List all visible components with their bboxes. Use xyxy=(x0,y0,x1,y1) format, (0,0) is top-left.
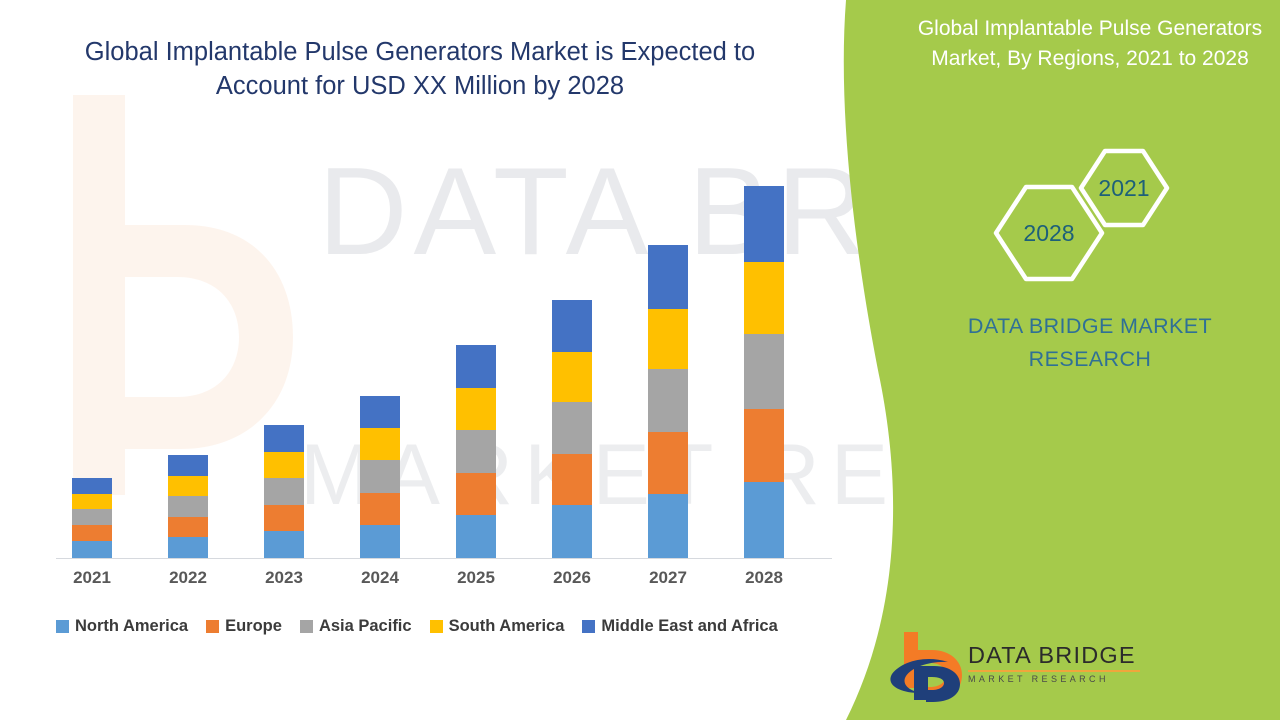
legend-item-middle-east-and-africa[interactable]: Middle East and Africa xyxy=(582,617,777,636)
x-axis-label-2027: 2027 xyxy=(638,568,698,588)
bar-segment-2024-asia-pacific xyxy=(360,460,400,493)
bar-segment-2022-europe xyxy=(168,517,208,537)
x-axis-label-2028: 2028 xyxy=(734,568,794,588)
stacked-bar-chart: 20212022202320242025202620272028 xyxy=(0,0,900,600)
bar-segment-2026-south-america xyxy=(552,352,592,402)
logo-wordmark: DATA BRIDGE MARKET RESEARCH xyxy=(968,642,1148,684)
bar-segment-2022-middle-east-and-africa xyxy=(168,455,208,476)
bar-2021 xyxy=(72,478,112,558)
legend-item-asia-pacific[interactable]: Asia Pacific xyxy=(300,617,412,636)
x-axis-label-2024: 2024 xyxy=(350,568,410,588)
x-axis-label-2022: 2022 xyxy=(158,568,218,588)
bar-segment-2028-south-america xyxy=(744,262,784,334)
bar-segment-2022-south-america xyxy=(168,476,208,496)
bar-2023 xyxy=(264,425,304,558)
bar-2028 xyxy=(744,186,784,558)
bar-2025 xyxy=(456,345,496,558)
logo-subtitle: MARKET RESEARCH xyxy=(968,674,1148,684)
chart-panel: DATA BRIDGE MARKET RESEARCH Global Impla… xyxy=(0,0,900,720)
legend-swatch-icon xyxy=(206,620,219,633)
bar-2022 xyxy=(168,455,208,558)
bar-segment-2026-middle-east-and-africa xyxy=(552,300,592,352)
bar-segment-2025-south-america xyxy=(456,388,496,430)
bar-2024 xyxy=(360,396,400,558)
bar-segment-2025-europe xyxy=(456,473,496,515)
bar-segment-2024-north-america xyxy=(360,525,400,558)
bar-segment-2027-south-america xyxy=(648,309,688,369)
legend-swatch-icon xyxy=(300,620,313,633)
bar-segment-2028-north-america xyxy=(744,482,784,558)
legend-swatch-icon xyxy=(56,620,69,633)
bar-segment-2026-europe xyxy=(552,454,592,505)
x-axis-line xyxy=(56,558,832,559)
logo-title: DATA BRIDGE xyxy=(968,642,1148,669)
x-axis-label-2023: 2023 xyxy=(254,568,314,588)
bar-segment-2022-asia-pacific xyxy=(168,496,208,517)
bar-segment-2021-south-america xyxy=(72,494,112,509)
bar-2026 xyxy=(552,300,592,558)
bar-segment-2025-middle-east-and-africa xyxy=(456,345,496,388)
chart-legend: North AmericaEuropeAsia PacificSouth Ame… xyxy=(56,617,836,636)
x-axis-label-2025: 2025 xyxy=(446,568,506,588)
bar-segment-2027-europe xyxy=(648,432,688,494)
bar-segment-2021-north-america xyxy=(72,541,112,558)
legend-swatch-icon xyxy=(582,620,595,633)
legend-label: South America xyxy=(449,617,565,636)
bar-segment-2028-middle-east-and-africa xyxy=(744,186,784,262)
logo-divider xyxy=(968,670,1140,672)
data-bridge-logo: DATA BRIDGE MARKET RESEARCH xyxy=(890,630,1150,705)
bar-segment-2026-asia-pacific xyxy=(552,402,592,454)
hexagon-2021-label: 2021 xyxy=(1098,175,1149,202)
brand-name: DATA BRIDGE MARKET RESEARCH xyxy=(920,310,1260,375)
bar-segment-2026-north-america xyxy=(552,505,592,558)
bar-segment-2027-asia-pacific xyxy=(648,369,688,432)
bar-segment-2023-south-america xyxy=(264,452,304,478)
bar-segment-2024-south-america xyxy=(360,428,400,460)
legend-label: Europe xyxy=(225,617,282,636)
legend-item-north-america[interactable]: North America xyxy=(56,617,188,636)
bar-segment-2023-middle-east-and-africa xyxy=(264,425,304,452)
x-axis-label-2026: 2026 xyxy=(542,568,602,588)
b-logo-icon xyxy=(890,630,970,702)
bar-segment-2024-europe xyxy=(360,493,400,525)
bar-segment-2021-europe xyxy=(72,525,112,541)
bar-segment-2023-europe xyxy=(264,505,304,531)
bar-segment-2024-middle-east-and-africa xyxy=(360,396,400,428)
bar-segment-2028-asia-pacific xyxy=(744,334,784,409)
legend-label: Asia Pacific xyxy=(319,617,412,636)
bar-segment-2021-middle-east-and-africa xyxy=(72,478,112,494)
bar-segment-2027-middle-east-and-africa xyxy=(648,245,688,309)
green-panel-content: Global Implantable Pulse Generators Mark… xyxy=(900,0,1280,720)
legend-label: North America xyxy=(75,617,188,636)
bar-segment-2023-asia-pacific xyxy=(264,478,304,505)
legend-item-south-america[interactable]: South America xyxy=(430,617,565,636)
panel-title: Global Implantable Pulse Generators Mark… xyxy=(912,14,1268,74)
bar-segment-2025-north-america xyxy=(456,515,496,558)
hexagon-2028-label: 2028 xyxy=(1023,220,1074,247)
bar-segment-2022-north-america xyxy=(168,537,208,558)
bar-segment-2027-north-america xyxy=(648,494,688,558)
bar-segment-2025-asia-pacific xyxy=(456,430,496,473)
bar-2027 xyxy=(648,245,688,558)
hexagon-year-2028: 2028 xyxy=(993,184,1105,282)
legend-swatch-icon xyxy=(430,620,443,633)
x-axis-labels: 20212022202320242025202620272028 xyxy=(0,568,840,598)
bar-segment-2028-europe xyxy=(744,409,784,482)
legend-item-europe[interactable]: Europe xyxy=(206,617,282,636)
bar-segment-2021-asia-pacific xyxy=(72,509,112,525)
legend-label: Middle East and Africa xyxy=(601,617,777,636)
bar-segment-2023-north-america xyxy=(264,531,304,558)
slide-canvas: DATA BRIDGE MARKET RESEARCH Global Impla… xyxy=(0,0,1280,720)
x-axis-label-2021: 2021 xyxy=(62,568,122,588)
